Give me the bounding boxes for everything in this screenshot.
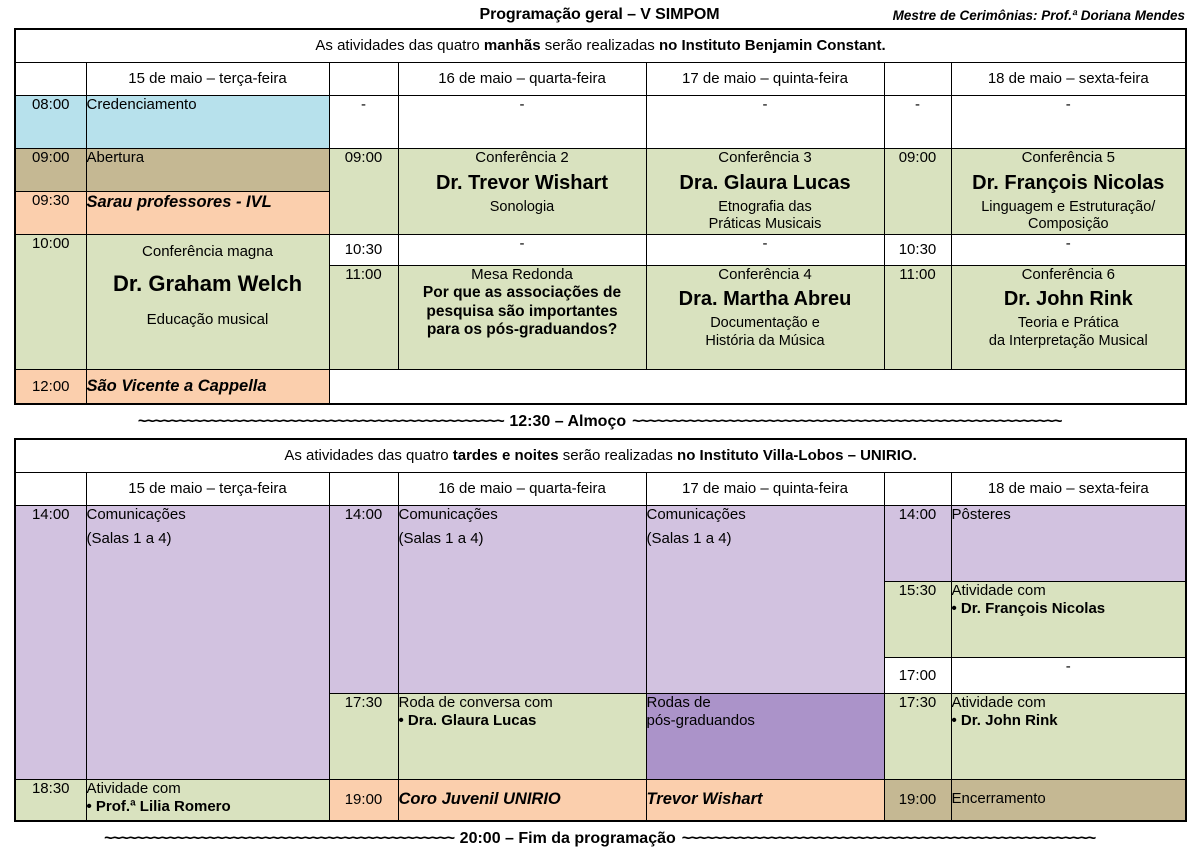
mesa-redonda-line1: Por que as associações de	[399, 284, 646, 303]
activity-posteres: Pôsteres	[951, 505, 1186, 581]
activity-atividade-lilia-romero: Atividade com • Prof.ª Lilia Romero	[86, 779, 329, 821]
comunicacoes-tue-line1: Comunicações	[87, 506, 329, 525]
empty-corner-3	[884, 63, 951, 96]
table-row-dayheaders: 15 de maio – terça-feira 16 de maio – qu…	[15, 472, 1186, 505]
empty-corner-3	[884, 472, 951, 505]
banner-text-2: serão realizadas	[541, 37, 659, 54]
empty-corner-1	[15, 63, 86, 96]
comunicacoes-wed-line1: Comunicações	[399, 506, 646, 525]
schedule-page: Programação geral – V SIMPOM Mestre de C…	[0, 0, 1199, 861]
activity-conferencia-5: Conferência 5 Dr. François Nicolas Lingu…	[951, 149, 1186, 235]
empty-corner-2	[329, 63, 398, 96]
time-1530-fri: 15:30	[884, 581, 951, 657]
separator-end-label: 20:00 – Fim da programação	[454, 830, 682, 847]
activity-atividade-john-rink: Atividade com • Dr. John Rink	[951, 693, 1186, 779]
separator-lunch-label: 12:30 – Almoço	[503, 413, 632, 430]
banner-bold-2: no Instituto Benjamin Constant.	[659, 37, 886, 54]
activity-dash-1700-fri: -	[951, 657, 1186, 693]
day-header-friday: 18 de maio – sexta-feira	[951, 63, 1186, 96]
activity-sarau-professores: Sarau professores - IVL	[86, 191, 329, 234]
activity-coro-juvenil: Coro Juvenil UNIRIO	[398, 779, 646, 821]
table-row: 09:00 Abertura 09:00 Conferência 2 Dr. T…	[15, 149, 1186, 192]
day-header-tuesday: 15 de maio – terça-feira	[86, 472, 329, 505]
activity-conferencia-magna: Conferência magna Dr. Graham Welch Educa…	[86, 234, 329, 369]
atividade-lilia-line2: • Prof.ª Lilia Romero	[87, 798, 329, 817]
atividade-rink-line1: Atividade com	[952, 694, 1186, 713]
conference-3-speaker: Dra. Glaura Lucas	[647, 172, 884, 195]
banner-text-1: As atividades das quatro	[315, 37, 483, 54]
table-row: 08:00 Credenciamento - - - - -	[15, 96, 1186, 149]
activity-comunicacoes-thu: Comunicações (Salas 1 a 4)	[646, 505, 884, 693]
sarau-label: Sarau professores - IVL	[87, 193, 272, 211]
trevor-wishart-label: Trevor Wishart	[647, 790, 763, 808]
time-1730-wed: 17:30	[329, 693, 398, 779]
conference-6-topic-line1: Teoria e Prática	[952, 315, 1186, 332]
separator-end: ~~~~~~~~~~~~~~~~~~~~~~~~~~~~~~~~~~~~~~~~…	[14, 822, 1185, 855]
activity-abertura: Abertura	[86, 149, 329, 192]
time-0930-tue: 09:30	[15, 191, 86, 234]
activity-credenciamento: Credenciamento	[86, 96, 329, 149]
mesa-redonda-line2: pesquisa são importantes	[399, 303, 646, 322]
separator-lunch: ~~~~~~~~~~~~~~~~~~~~~~~~~~~~~~~~~~~~~~~~…	[14, 405, 1185, 438]
coro-juvenil-label: Coro Juvenil UNIRIO	[399, 790, 561, 808]
activity-trevor-wishart-evening: Trevor Wishart	[646, 779, 884, 821]
mesa-redonda-line3: para os pós-graduandos?	[399, 321, 646, 340]
conference-4-speaker: Dra. Martha Abreu	[647, 288, 884, 311]
activity-rodas-pos-graduandos: Rodas de pós-graduandos	[646, 693, 884, 779]
time-1830-tue: 18:30	[15, 779, 86, 821]
table-row-banner: As atividades das quatro tardes e noites…	[15, 439, 1186, 473]
atividade-francois-line2: • Dr. François Nicolas	[952, 600, 1186, 619]
conference-2-speaker: Dr. Trevor Wishart	[399, 172, 646, 195]
time-dash-wed: -	[329, 96, 398, 149]
time-1900-wed: 19:00	[329, 779, 398, 821]
activity-sao-vicente: São Vicente a Cappella	[86, 369, 329, 404]
time-0800: 08:00	[15, 96, 86, 149]
roda-conversa-line1: Roda de conversa com	[399, 694, 646, 713]
comunicacoes-thu-line2: (Salas 1 a 4)	[647, 530, 884, 549]
conference-4-label: Conferência 4	[647, 266, 884, 285]
activity-conferencia-6: Conferência 6 Dr. John Rink Teoria e Prá…	[951, 265, 1186, 369]
conference-6-speaker: Dr. John Rink	[952, 288, 1186, 311]
conference-5-label: Conferência 5	[952, 149, 1186, 168]
mesa-redonda-label: Mesa Redonda	[399, 266, 646, 285]
time-1200-tue: 12:00	[15, 369, 86, 404]
conference-5-speaker: Dr. François Nicolas	[952, 172, 1186, 195]
table-row: 12:00 São Vicente a Cappella	[15, 369, 1186, 404]
conference-magna-label: Conferência magna	[87, 243, 329, 262]
time-1700-fri: 17:00	[884, 657, 951, 693]
separator-tilde-left: ~~~~~~~~~~~~~~~~~~~~~~~~~~~~~~~~~~~~~~~~…	[104, 830, 454, 847]
conference-3-label: Conferência 3	[647, 149, 884, 168]
afternoon-schedule-table: As atividades das quatro tardes e noites…	[14, 438, 1187, 822]
table-row-banner: As atividades das quatro manhãs serão re…	[15, 29, 1186, 63]
conference-2-topic: Sonologia	[399, 199, 646, 216]
conference-3-topic-line2: Práticas Musicais	[647, 216, 884, 233]
rodas-pos-line1: Rodas de	[647, 694, 884, 713]
day-header-wednesday: 16 de maio – quarta-feira	[398, 472, 646, 505]
conference-magna-speaker: Dr. Graham Welch	[87, 271, 329, 296]
conference-2-label: Conferência 2	[399, 149, 646, 168]
atividade-rink-line2: • Dr. John Rink	[952, 712, 1186, 731]
conference-3-topic-line1: Etnografia das	[647, 199, 884, 216]
conference-4-topic-line2: História da Música	[647, 333, 884, 350]
time-1030-wed: 10:30	[329, 234, 398, 265]
separator-tilde-left: ~~~~~~~~~~~~~~~~~~~~~~~~~~~~~~~~~~~~~~~~…	[138, 413, 503, 430]
table-row: 10:00 Conferência magna Dr. Graham Welch…	[15, 234, 1186, 265]
empty-corner-2	[329, 472, 398, 505]
banner-bold-1: tardes e noites	[453, 447, 559, 464]
rodas-pos-line2: pós-graduandos	[647, 712, 884, 731]
sao-vicente-label: São Vicente a Cappella	[87, 377, 267, 395]
activity-encerramento: Encerramento	[951, 779, 1186, 821]
activity-comunicacoes-tue: Comunicações (Salas 1 a 4)	[86, 505, 329, 779]
comunicacoes-wed-line2: (Salas 1 a 4)	[399, 530, 646, 549]
day-header-thursday: 17 de maio – quinta-feira	[646, 472, 884, 505]
time-1730-fri: 17:30	[884, 693, 951, 779]
day-header-friday: 18 de maio – sexta-feira	[951, 472, 1186, 505]
time-1030-fri: 10:30	[884, 234, 951, 265]
activity-dash-thu: -	[646, 96, 884, 149]
atividade-lilia-line1: Atividade com	[87, 780, 329, 799]
document-header: Programação geral – V SIMPOM Mestre de C…	[14, 0, 1185, 28]
conference-5-topic-line2: Composição	[952, 216, 1186, 233]
conference-4-topic-line1: Documentação e	[647, 315, 884, 332]
time-1400-tue: 14:00	[15, 505, 86, 779]
activity-dash-1030-wed: -	[398, 234, 646, 265]
atividade-francois-line1: Atividade com	[952, 582, 1186, 601]
time-1400-fri: 14:00	[884, 505, 951, 581]
activity-roda-conversa-glaura: Roda de conversa com • Dra. Glaura Lucas	[398, 693, 646, 779]
conference-6-label: Conferência 6	[952, 266, 1186, 285]
comunicacoes-thu-line1: Comunicações	[647, 506, 884, 525]
morning-banner: As atividades das quatro manhãs serão re…	[15, 29, 1186, 63]
separator-tilde-right: ~~~~~~~~~~~~~~~~~~~~~~~~~~~~~~~~~~~~~~~~…	[682, 830, 1095, 847]
empty-corner-1	[15, 472, 86, 505]
banner-text-2: serão realizadas	[559, 447, 677, 464]
activity-dash-1030-thu: -	[646, 234, 884, 265]
activity-mesa-redonda: Mesa Redonda Por que as associações de p…	[398, 265, 646, 369]
banner-text-1: As atividades das quatro	[284, 447, 452, 464]
time-1400-wed: 14:00	[329, 505, 398, 693]
activity-dash-fri: -	[951, 96, 1186, 149]
time-1100-fri: 11:00	[884, 265, 951, 369]
conference-6-topic-line2: da Interpretação Musical	[952, 333, 1186, 350]
banner-bold-2: no Instituto Villa-Lobos – UNIRIO.	[677, 447, 917, 464]
roda-conversa-line2: • Dra. Glaura Lucas	[399, 712, 646, 731]
table-row-dayheaders: 15 de maio – terça-feira 16 de maio – qu…	[15, 63, 1186, 96]
activity-comunicacoes-wed: Comunicações (Salas 1 a 4)	[398, 505, 646, 693]
separator-tilde-right: ~~~~~~~~~~~~~~~~~~~~~~~~~~~~~~~~~~~~~~~~…	[632, 413, 1061, 430]
conference-5-topic-line1: Linguagem e Estruturação/	[952, 199, 1186, 216]
activity-conferencia-3: Conferência 3 Dra. Glaura Lucas Etnograf…	[646, 149, 884, 235]
time-1900-fri: 19:00	[884, 779, 951, 821]
table-row: 14:00 Comunicações (Salas 1 a 4) 14:00 C…	[15, 505, 1186, 581]
time-0900-fri: 09:00	[884, 149, 951, 235]
banner-bold-1: manhãs	[484, 37, 541, 54]
time-0900-wed: 09:00	[329, 149, 398, 235]
table-row: 18:30 Atividade com • Prof.ª Lilia Romer…	[15, 779, 1186, 821]
activity-conferencia-2: Conferência 2 Dr. Trevor Wishart Sonolog…	[398, 149, 646, 235]
time-0900-tue: 09:00	[15, 149, 86, 192]
activity-dash-wed: -	[398, 96, 646, 149]
activity-dash-1030-fri: -	[951, 234, 1186, 265]
activity-atividade-francois: Atividade com • Dr. François Nicolas	[951, 581, 1186, 657]
time-1000-tue: 10:00	[15, 234, 86, 369]
afternoon-banner: As atividades das quatro tardes e noites…	[15, 439, 1186, 473]
day-header-wednesday: 16 de maio – quarta-feira	[398, 63, 646, 96]
activity-conferencia-4: Conferência 4 Dra. Martha Abreu Document…	[646, 265, 884, 369]
conference-magna-topic: Educação musical	[87, 311, 329, 329]
day-header-tuesday: 15 de maio – terça-feira	[86, 63, 329, 96]
time-dash-fri: -	[884, 96, 951, 149]
morning-schedule-table: As atividades das quatro manhãs serão re…	[14, 28, 1187, 405]
day-header-thursday: 17 de maio – quinta-feira	[646, 63, 884, 96]
comunicacoes-tue-line2: (Salas 1 a 4)	[87, 530, 329, 549]
master-of-ceremonies-credit: Mestre de Cerimônias: Prof.ª Doriana Men…	[893, 8, 1185, 23]
time-1100-wed: 11:00	[329, 265, 398, 369]
